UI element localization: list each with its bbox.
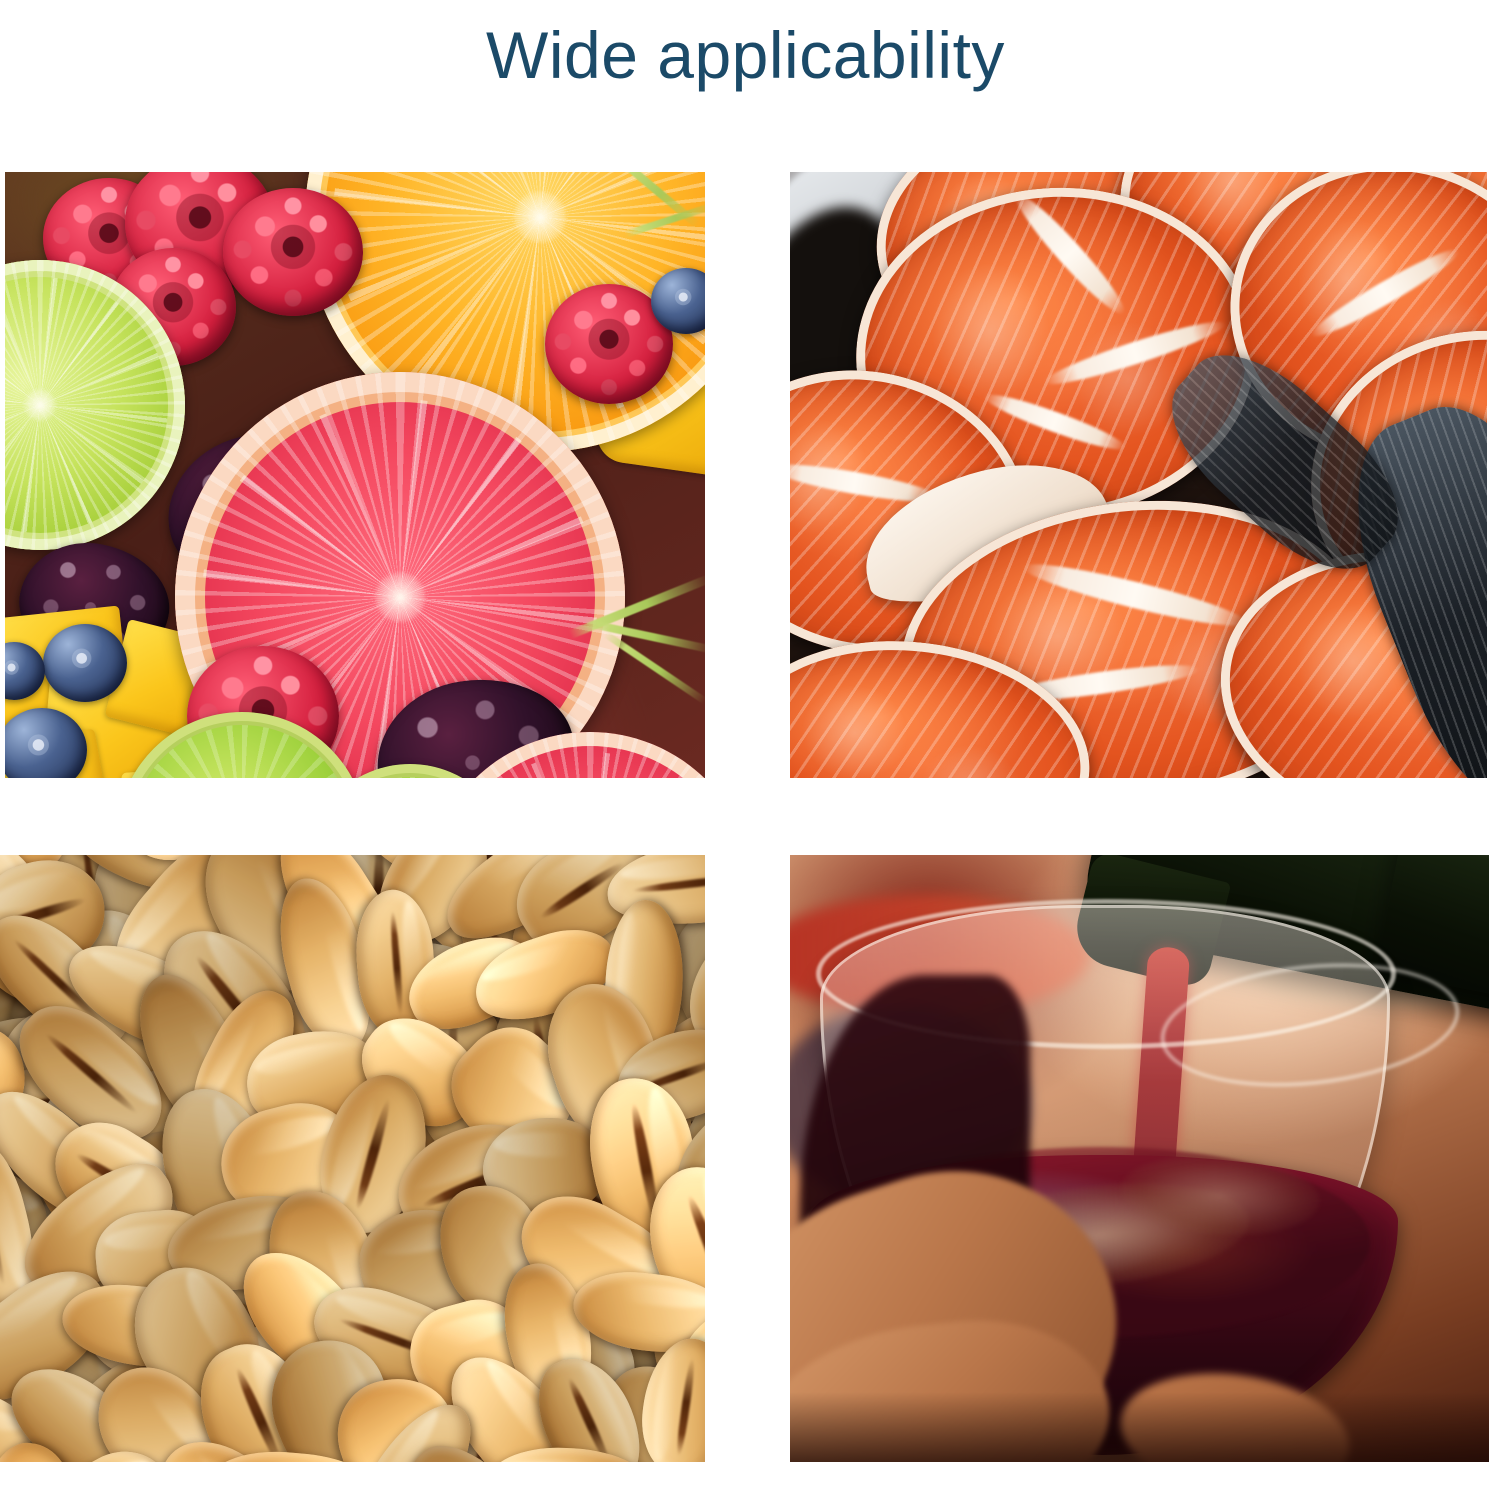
product-feature-image: Wide applicability — [0, 0, 1491, 1491]
pistachio-pile — [0, 855, 705, 1462]
salmon-steaks-photo — [790, 172, 1487, 778]
raspberry — [223, 188, 363, 316]
blueberry — [43, 624, 127, 702]
fruit-platter-photo — [5, 172, 705, 778]
pistachios-photo — [0, 855, 705, 1462]
red-wine-pour-photo — [790, 855, 1489, 1462]
page-title: Wide applicability — [0, 14, 1491, 97]
bottom-shadow — [790, 1392, 1489, 1462]
